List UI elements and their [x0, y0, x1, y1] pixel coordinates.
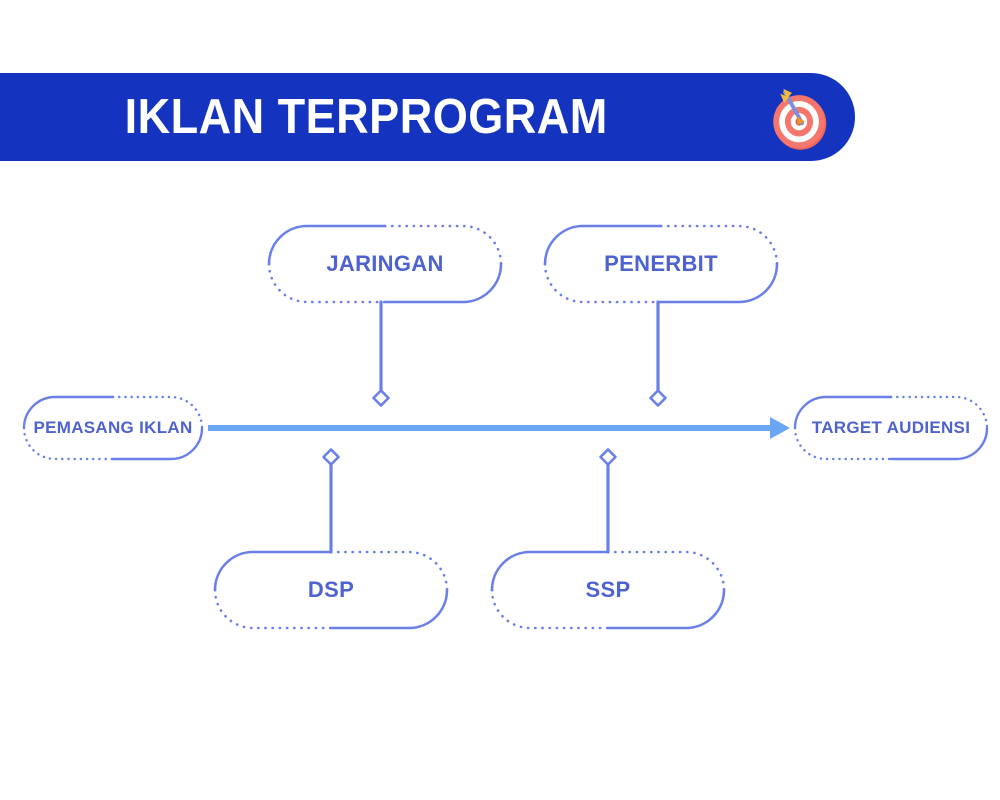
node-label-penerbit: PENERBIT	[604, 251, 718, 277]
diamond-marker-ssp	[601, 450, 616, 465]
node-label-ssp: SSP	[586, 577, 631, 603]
connector-jaringan	[374, 302, 389, 406]
flow-arrow-pemasang-to-target	[208, 417, 790, 439]
diamond-marker-penerbit	[651, 391, 666, 406]
connector-ssp	[601, 450, 616, 553]
node-label-dsp: DSP	[308, 577, 354, 603]
node-label-jaringan: JARINGAN	[326, 251, 443, 277]
diamond-marker-jaringan	[374, 391, 389, 406]
node-label-pemasang-iklan: PEMASANG IKLAN	[33, 418, 192, 438]
node-label-target-audiensi: TARGET AUDIENSI	[812, 418, 970, 438]
connector-dsp	[324, 450, 339, 553]
diamond-marker-dsp	[324, 450, 339, 465]
flow-diagram	[0, 0, 1000, 800]
diagram-canvas: IKLAN TERPROGRAM	[0, 0, 1000, 800]
connector-penerbit	[651, 302, 666, 406]
